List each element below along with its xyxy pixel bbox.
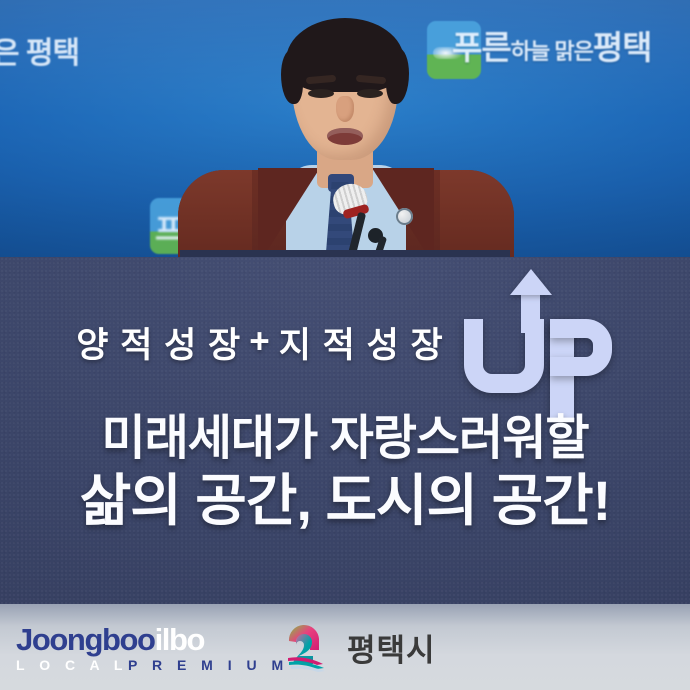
pyeongtaek-emblem-icon <box>283 620 337 674</box>
card-news-image: 푸른하늘 맑은평택 은 평택 프로 <box>0 0 690 690</box>
up-arrow-logo <box>458 291 614 401</box>
subheadline-line-1: 미래세대가 자랑스러워할 <box>0 415 690 464</box>
headline-right-text: 지 적 성 장 <box>279 317 444 368</box>
speaker-lapel-left <box>258 168 320 262</box>
speaker-mouth <box>327 128 363 145</box>
up-letter-p-bowl <box>550 319 612 376</box>
press-conference-photo: 푸른하늘 맑은평택 은 평택 프로 <box>0 0 690 262</box>
up-arrow-head-icon <box>510 269 552 295</box>
headline-left-text: 양 적 성 장 <box>76 317 241 368</box>
footer-bar: Joongbooilbo L O C A LP R E M I U M <box>0 604 690 690</box>
subheadline-block: 미래세대가 자랑스러워할 삶의 공간, 도시의 공간! <box>0 415 690 529</box>
headline-plus-symbol: + <box>249 322 270 362</box>
joongboo-ilbo-logo[interactable]: Joongbooilbo L O C A LP R E M I U M <box>16 624 289 672</box>
subheadline-line-2: 삶의 공간, 도시의 공간! <box>0 472 690 529</box>
speaker-eye-right <box>357 89 383 98</box>
lapel-pin-icon <box>396 208 413 225</box>
pyeongtaek-city-logo[interactable]: 평택시 <box>283 620 436 674</box>
joongboo-tagline: L O C A LP R E M I U M <box>16 658 289 672</box>
joongboo-wordmark: Joongbooilbo <box>16 624 289 655</box>
speaker-eye-left <box>308 89 334 98</box>
pyeongtaek-city-name: 평택시 <box>347 625 436 670</box>
joongboo-wordmark-light: ilbo <box>155 622 205 657</box>
joongboo-tagline-premium: P R E M I U M <box>128 657 289 673</box>
headline-row: 양 적 성 장 + 지 적 성 장 <box>0 283 690 401</box>
speaker-hair <box>286 18 404 92</box>
joongboo-tagline-local: L O C A L <box>16 657 128 673</box>
speaker-figure <box>0 0 690 262</box>
speaker-nose <box>336 96 354 122</box>
headline-panel: 양 적 성 장 + 지 적 성 장 미래세대가 자랑스러워할 삶의 공간, 도시… <box>0 257 690 604</box>
joongboo-wordmark-dark: Joongboo <box>16 622 155 657</box>
